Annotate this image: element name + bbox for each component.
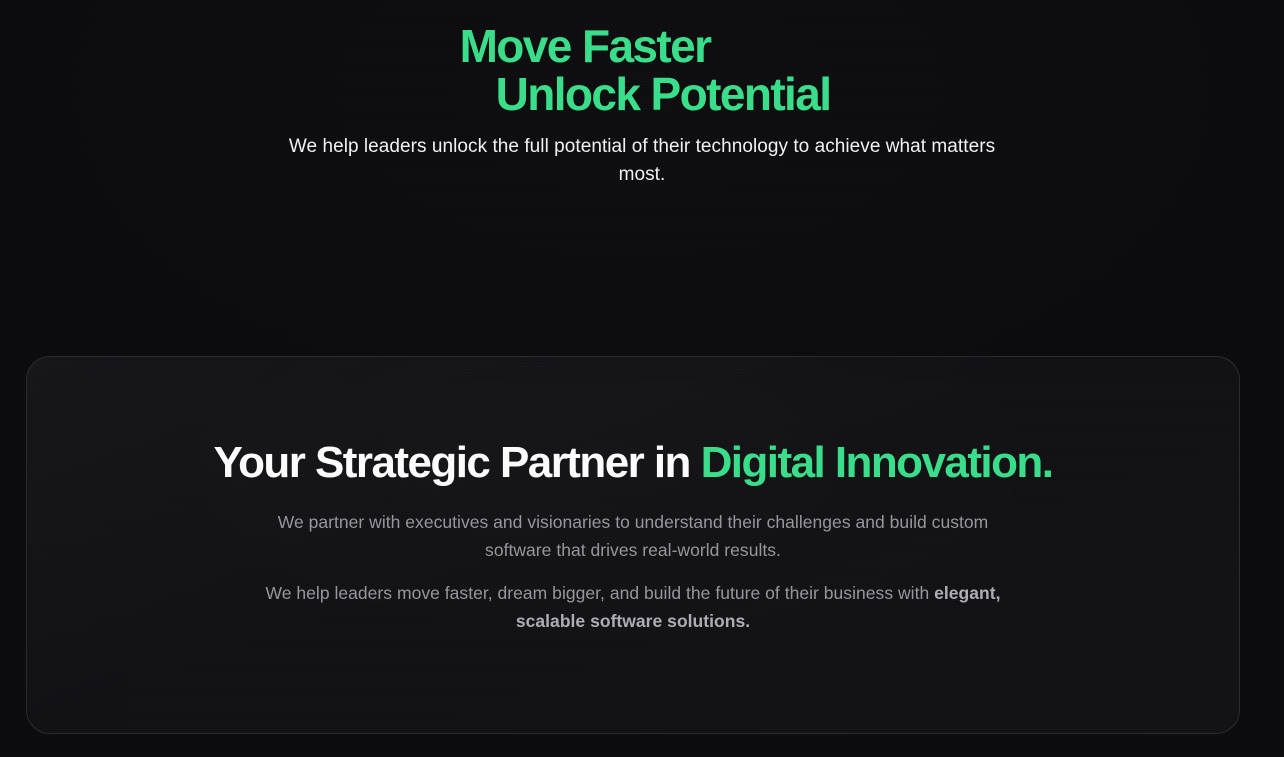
card-title-plain: Your Strategic Partner in [214,438,701,487]
card-paragraph-2: We help leaders move faster, dream bigge… [253,579,1013,635]
hero-subtitle: We help leaders unlock the full potentia… [272,133,1012,189]
hero-title: Move Faster Unlock Potential [0,22,1284,118]
card-title: Your Strategic Partner in Digital Innova… [27,438,1239,488]
hero-section: Move Faster Unlock Potential We help lea… [0,0,1284,189]
landing-page: Move Faster Unlock Potential We help lea… [0,0,1284,757]
card-title-accent: Digital Innovation. [701,438,1053,487]
card-paragraph-1: We partner with executives and visionari… [268,508,998,564]
strategic-partner-card: Your Strategic Partner in Digital Innova… [26,356,1240,734]
hero-title-line-2: Unlock Potential [42,70,1284,118]
card-paragraph-2-lead: We help leaders move faster, dream bigge… [265,583,934,603]
hero-title-line-1: Move Faster [0,22,1284,70]
card-content: Your Strategic Partner in Digital Innova… [27,357,1239,635]
